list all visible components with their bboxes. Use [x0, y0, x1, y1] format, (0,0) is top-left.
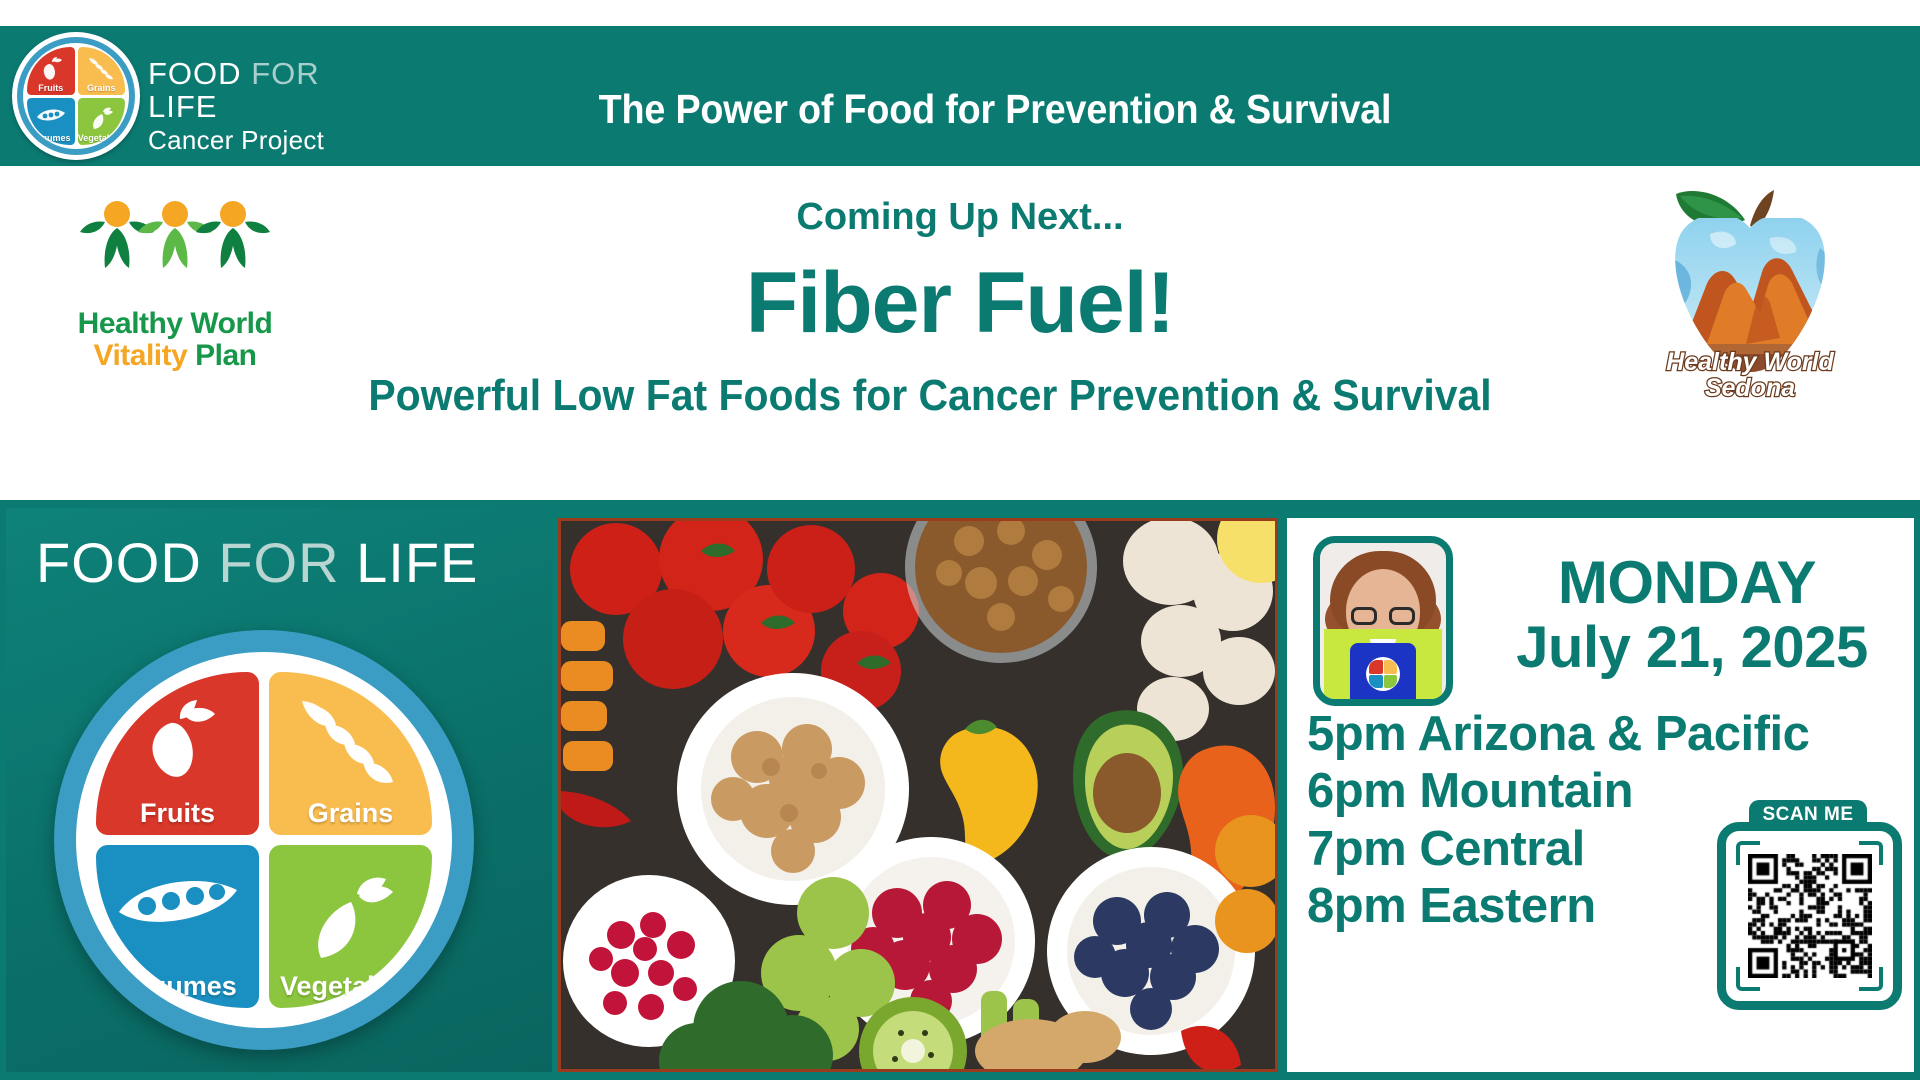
plate-quadrant-legumes: Legumes — [96, 845, 259, 1008]
vitality-logo-word-vitality: Vitality — [93, 339, 187, 372]
carrot-icon — [295, 868, 407, 974]
event-times-list: 5pm Arizona & Pacific 6pm Mountain 7pm C… — [1307, 706, 1787, 935]
food-for-life-panel: FOOD FOR LIFE Fruits — [6, 508, 552, 1072]
plate-quadrant-legumes: Legumes — [27, 98, 75, 146]
plate-quadrant-vegetables: Vegetables — [269, 845, 432, 1008]
panel-wordmark: FOOD FOR LIFE — [36, 530, 478, 595]
bottom-section: FOOD FOR LIFE Fruits — [0, 500, 1920, 1080]
presenter-avatar — [1313, 536, 1453, 706]
logo-word-for: FOR — [251, 56, 319, 91]
plate-quadrant-fruits: Fruits — [27, 47, 75, 95]
event-date: July 21, 2025 — [1467, 614, 1917, 681]
qr-code-block[interactable]: SCAN ME — [1717, 800, 1902, 1010]
sedona-apple-icon: Healthy World Sedona — [1650, 168, 1850, 398]
plate-label: Legumes — [31, 133, 71, 145]
panel-word-food: FOOD — [36, 531, 202, 594]
carrot-icon — [84, 105, 118, 135]
plate-label: Fruits — [140, 798, 215, 835]
pear-icon — [123, 695, 233, 791]
program-subtitle: Powerful Low Fat Foods for Cancer Preven… — [233, 371, 1628, 421]
vitality-logo-word-plan: Plan — [195, 339, 256, 372]
three-figures-icon — [75, 194, 275, 304]
event-day: MONDAY — [1467, 548, 1907, 617]
plate-quadrant-vegetables: Vegetables — [78, 98, 126, 146]
qr-code-frame[interactable] — [1717, 822, 1902, 1010]
logo-subtitle: Cancer Project — [148, 125, 398, 156]
scan-me-label: SCAN ME — [1749, 800, 1867, 830]
pear-icon — [34, 55, 68, 85]
apron-power-plate-icon — [1366, 657, 1400, 691]
plate-quadrant-grains: Grains — [78, 47, 126, 95]
event-time: 8pm Eastern — [1307, 878, 1787, 935]
slide-canvas: The Power of Food for Prevention & Survi… — [0, 0, 1920, 1080]
plate-quadrant-grains: Grains — [269, 672, 432, 835]
plate-label: Vegetables — [280, 971, 421, 1008]
event-time: 7pm Central — [1307, 821, 1787, 878]
vitality-logo-line1: Healthy World — [55, 308, 295, 340]
event-details-panel: MONDAY July 21, 2025 5pm Arizona & Pacif… — [1282, 518, 1914, 1072]
wheat-icon — [84, 55, 118, 85]
peapod-icon — [113, 868, 243, 940]
coming-up-next-label: Coming Up Next... — [460, 196, 1460, 239]
logo-word-food: FOOD — [148, 56, 242, 91]
plate-label: Legumes — [118, 971, 237, 1008]
food-for-life-cancer-project-logo: Fruits Grains — [8, 28, 423, 166]
middle-band: Coming Up Next... Fiber Fuel! Powerful L… — [0, 166, 1920, 500]
panel-word-life: LIFE — [356, 531, 478, 594]
glasses-icon — [1351, 607, 1415, 625]
event-time: 6pm Mountain — [1307, 763, 1787, 820]
healthy-world-sedona-logo: Healthy World Sedona — [1650, 168, 1850, 398]
peapod-icon — [34, 105, 68, 131]
event-time: 5pm Arizona & Pacific — [1307, 706, 1787, 763]
power-plate-icon: Fruits Grains — [12, 32, 140, 160]
qr-code-image[interactable] — [1748, 854, 1872, 978]
power-plate-large: Fruits Grains — [54, 630, 474, 1050]
healthy-world-vitality-plan-logo: Healthy World Vitality Plan — [55, 194, 295, 394]
logo-word-life: LIFE — [148, 89, 217, 124]
svg-text:Healthy World: Healthy World — [1666, 348, 1834, 376]
header-title: The Power of Food for Prevention & Survi… — [475, 86, 1515, 133]
panel-word-for: FOR — [218, 531, 339, 594]
wheat-icon — [292, 695, 410, 805]
svg-text:Sedona: Sedona — [1705, 374, 1795, 398]
program-title: Fiber Fuel! — [460, 254, 1460, 353]
healthy-food-photo — [558, 518, 1278, 1072]
